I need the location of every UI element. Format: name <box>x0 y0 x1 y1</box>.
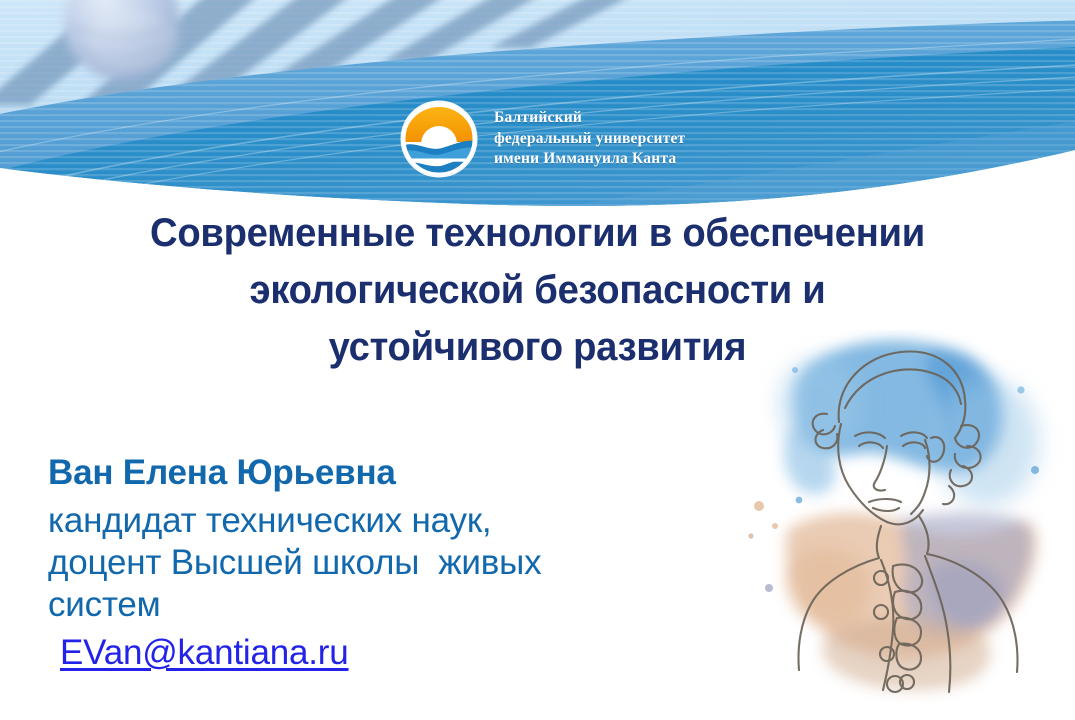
bfu-sun-waves-emblem <box>398 98 480 180</box>
author-email-link[interactable]: EVan@kantiana.ru <box>60 632 349 674</box>
logo-line-3: имени Иммануила Канта <box>494 149 685 170</box>
title-line-2: экологической безопасности и <box>24 262 1051 319</box>
immanuel-kant-watercolor-portrait <box>735 330 1065 720</box>
university-logo-text: Балтийский федеральный университет имени… <box>494 108 685 170</box>
author-name: Ван Елена Юрьевна <box>48 452 728 494</box>
title-slide: Балтийский федеральный университет имени… <box>0 0 1075 720</box>
author-detail-2: доцент Высшей школы живых <box>48 542 728 584</box>
author-detail-3: систем <box>48 584 728 626</box>
author-info: Ван Елена Юрьевна кандидат технических н… <box>48 452 728 674</box>
logo-line-2: федеральный университет <box>494 129 685 150</box>
page-title: Современные технологии в обеспечении эко… <box>24 205 1051 375</box>
university-logo: Балтийский федеральный университет имени… <box>398 98 685 180</box>
logo-line-1: Балтийский <box>494 108 685 129</box>
title-line-3: устойчивого развития <box>24 319 1051 376</box>
author-detail-1: кандидат технических наук, <box>48 500 728 542</box>
title-line-1: Современные технологии в обеспечении <box>24 205 1051 262</box>
